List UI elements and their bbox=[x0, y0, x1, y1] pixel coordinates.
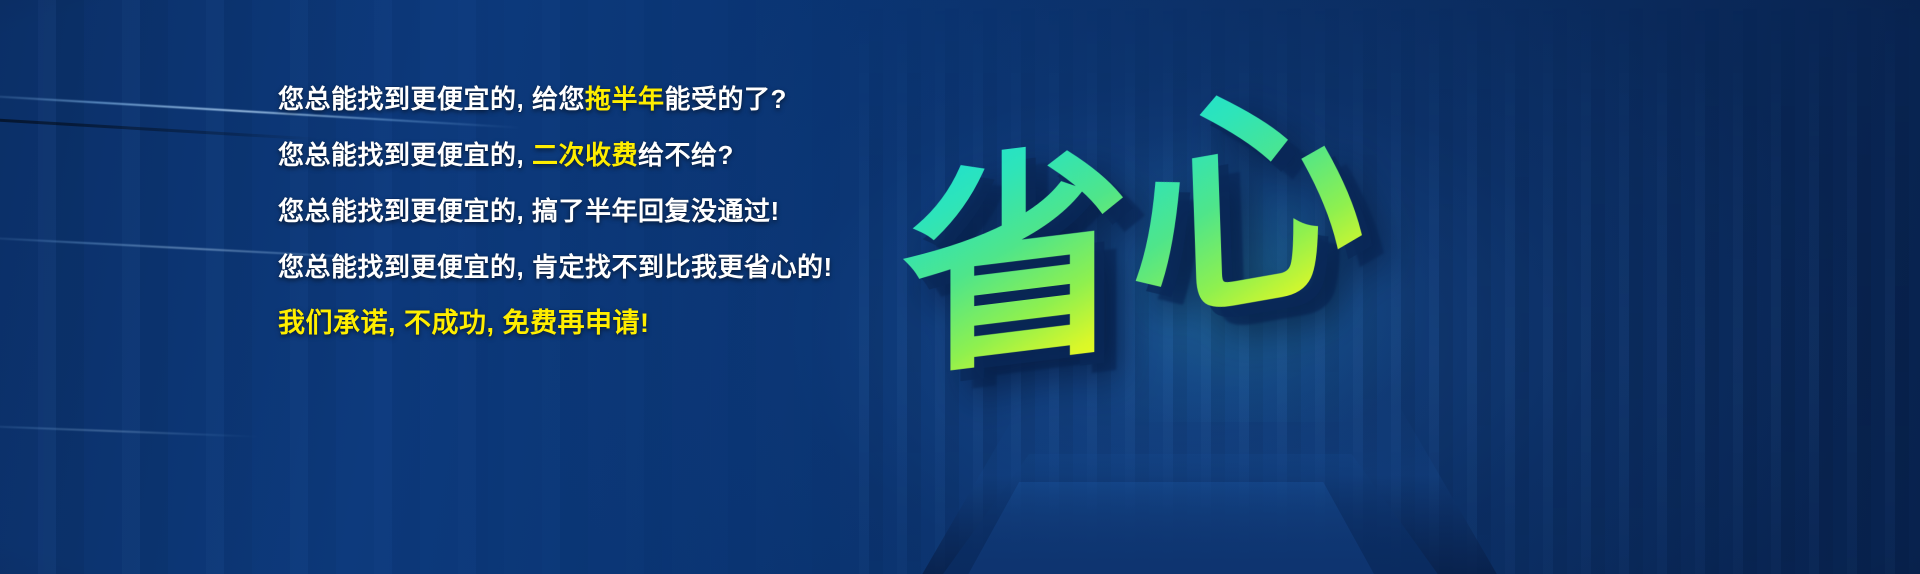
copy-line-2: 您总能找到更便宜的, 二次收费给不给? bbox=[278, 142, 918, 168]
hero-glyph-group: 省 省 心 心 bbox=[900, 62, 1420, 392]
copy-line-3-text: 您总能找到更便宜的, 搞了半年回复没通过! bbox=[278, 196, 780, 226]
copy-line-1-highlight: 拖半年 bbox=[585, 84, 665, 114]
copy-line-2-prefix: 您总能找到更便宜的, bbox=[278, 140, 532, 170]
copy-line-2-highlight: 二次收费 bbox=[532, 140, 638, 170]
copy-line-5-text: 我们承诺, 不成功, 免费再申请! bbox=[278, 308, 650, 338]
copy-line-3: 您总能找到更便宜的, 搞了半年回复没通过! bbox=[278, 198, 918, 224]
hero-glyph-xin: 心 bbox=[1124, 66, 1368, 342]
copy-line-4: 您总能找到更便宜的, 肯定找不到比我更省心的! bbox=[278, 254, 918, 280]
copy-line-4-text: 您总能找到更便宜的, 肯定找不到比我更省心的! bbox=[278, 252, 833, 282]
promo-banner: 您总能找到更便宜的, 给您拖半年能受的了? 您总能找到更便宜的, 二次收费给不给… bbox=[0, 0, 1920, 574]
hero-glyph-sheng: 省 bbox=[902, 134, 1130, 390]
copy-line-5-promise: 我们承诺, 不成功, 免费再申请! bbox=[278, 310, 918, 337]
copy-block: 您总能找到更便宜的, 给您拖半年能受的了? 您总能找到更便宜的, 二次收费给不给… bbox=[278, 86, 918, 337]
copy-line-2-suffix: 给不给? bbox=[638, 140, 734, 170]
copy-line-1: 您总能找到更便宜的, 给您拖半年能受的了? bbox=[278, 86, 918, 112]
perspective-floor-slab-3 bbox=[960, 482, 1382, 574]
copy-line-1-suffix: 能受的了? bbox=[664, 84, 786, 114]
copy-line-1-prefix: 您总能找到更便宜的, 给您 bbox=[278, 84, 585, 114]
